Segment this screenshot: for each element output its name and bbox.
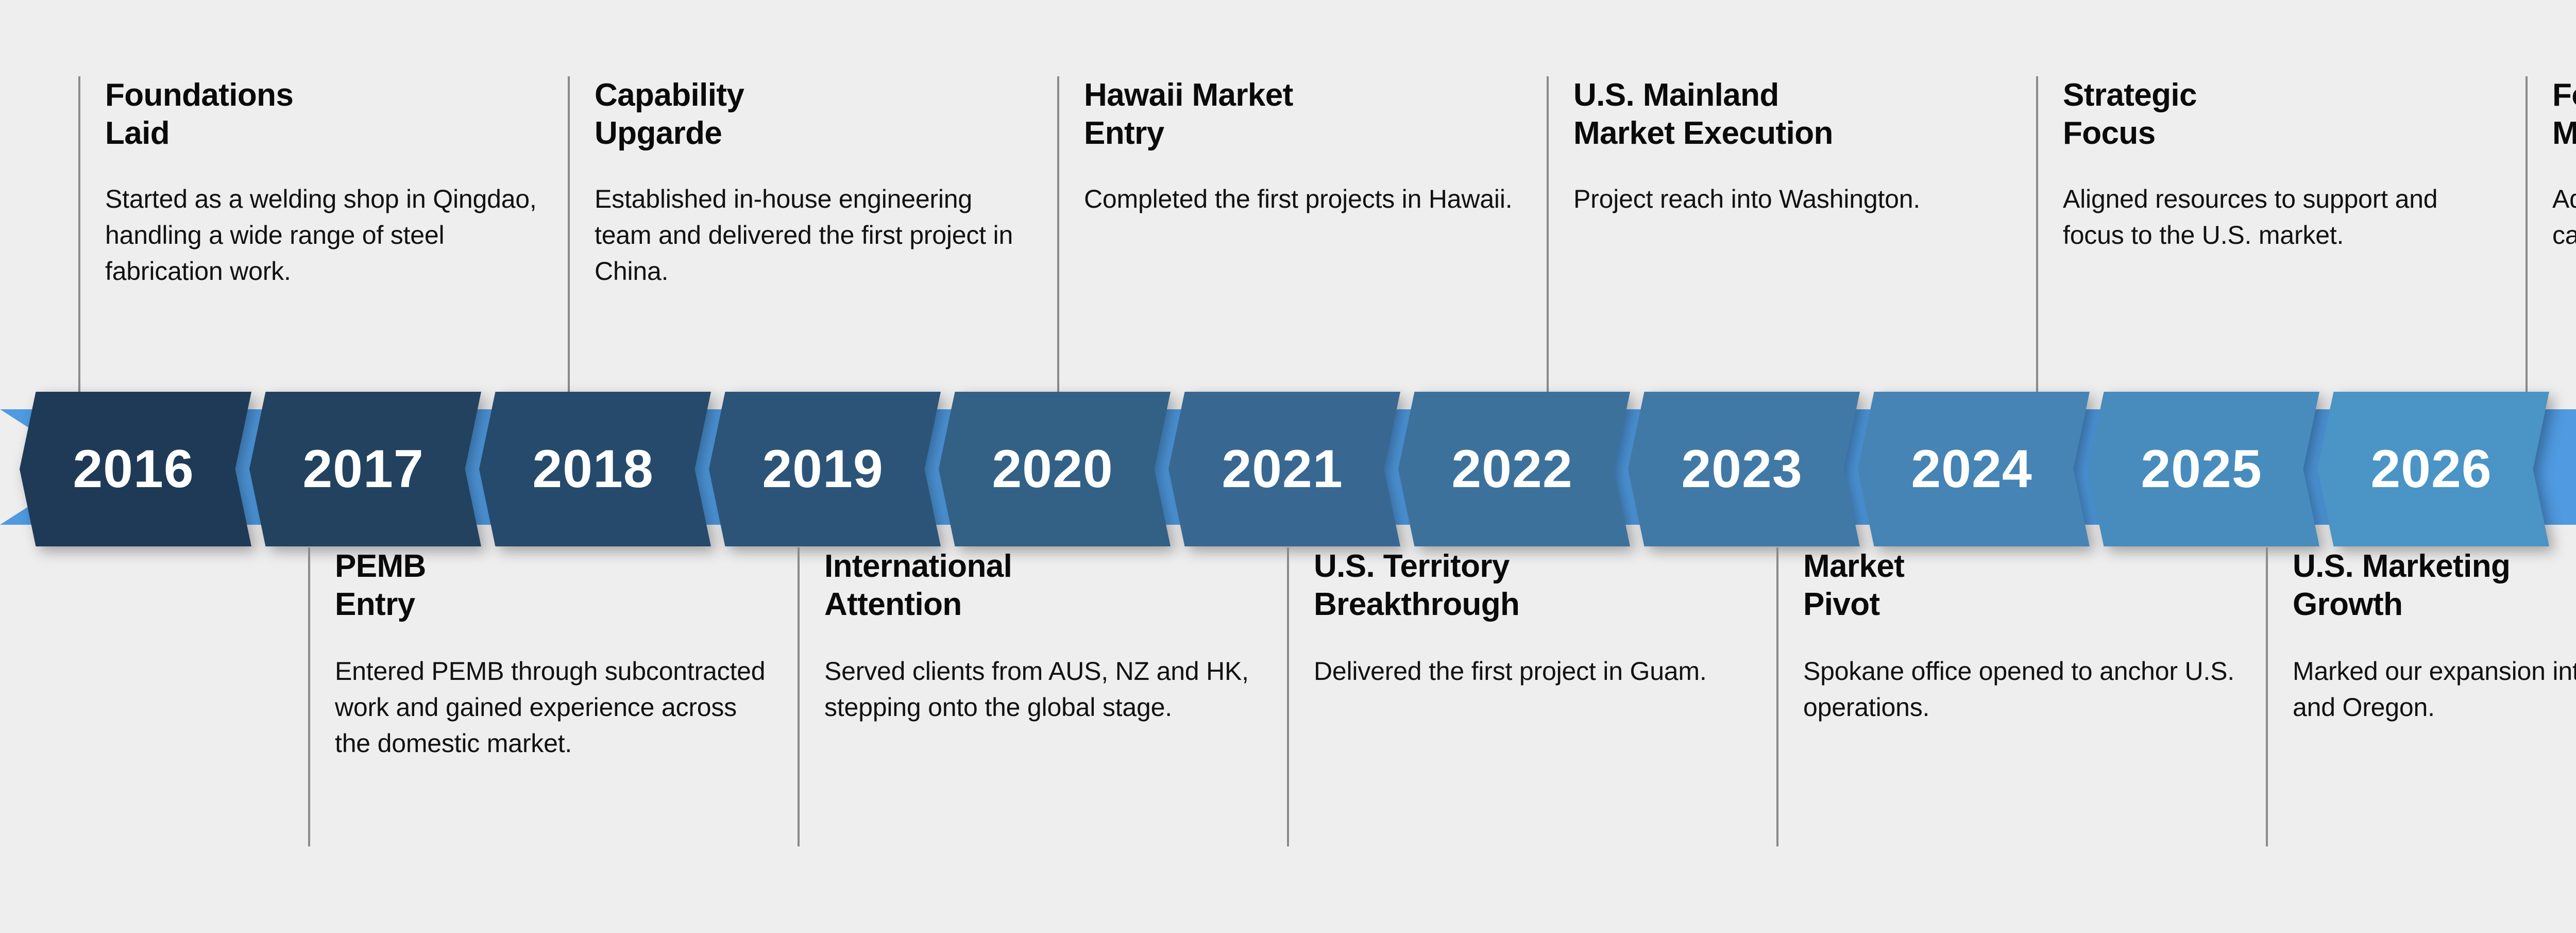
timeline-step-2023[interactable]: 2023 xyxy=(1628,392,1860,546)
entry-title: Market Pivot xyxy=(1803,547,2243,624)
entry-description: Started as a welding shop in Qingdao, ha… xyxy=(105,181,545,289)
entry-title: Hawaii Market Entry xyxy=(1084,76,1523,153)
entry-title: Forward Momentum xyxy=(2552,76,2576,153)
year-label: 2026 xyxy=(2315,392,2547,546)
year-label: 2021 xyxy=(1166,392,1398,546)
top-entry-2020: Hawaii Market EntryCompleted the first p… xyxy=(1057,76,1523,392)
entry-description: Marked our expansion into California and… xyxy=(2293,653,2576,725)
bottom-entry-2017: PEMB EntryEntered PEMB through subcontra… xyxy=(308,547,774,846)
entry-description: Spokane office opened to anchor U.S. ope… xyxy=(1803,653,2243,725)
entry-title: International Attention xyxy=(824,547,1264,624)
year-label: 2017 xyxy=(247,392,479,546)
entry-description: Advancing execution and operational capa… xyxy=(2552,181,2576,253)
entry-description: Served clients from AUS, NZ and HK, step… xyxy=(824,653,1264,725)
entry-divider-line xyxy=(1287,547,1289,846)
year-label: 2018 xyxy=(477,392,709,546)
timeline-step-2021[interactable]: 2021 xyxy=(1168,392,1400,546)
entry-divider-line xyxy=(568,76,570,392)
year-label: 2016 xyxy=(18,392,249,546)
entry-description: Established in-house engineering team an… xyxy=(595,181,1034,289)
timeline-step-2018[interactable]: 2018 xyxy=(479,392,711,546)
entry-divider-line xyxy=(798,547,800,846)
entry-divider-line xyxy=(2036,76,2038,392)
bottom-entry-2025: U.S. Marketing GrowthMarked our expansio… xyxy=(2266,547,2576,846)
entry-divider-line xyxy=(2526,76,2528,392)
entry-title: Strategic Focus xyxy=(2063,76,2502,153)
entry-title: Foundations Laid xyxy=(105,76,545,153)
year-label: 2020 xyxy=(937,392,1168,546)
entry-title: U.S. Mainland Market Execution xyxy=(1573,76,2013,153)
entry-description: Delivered the first project in Guam. xyxy=(1314,653,1753,689)
entry-title: U.S. Marketing Growth xyxy=(2293,547,2576,624)
top-entry-2018: Capability UpgardeEstablished in-house e… xyxy=(568,76,1034,392)
timeline-step-2016[interactable]: 2016 xyxy=(20,392,251,546)
timeline-step-2024[interactable]: 2024 xyxy=(1858,392,2090,546)
timeline-step-2020[interactable]: 2020 xyxy=(939,392,1171,546)
top-entry-2026: Forward MomentumAdvancing execution and … xyxy=(2526,76,2576,392)
timeline-infographic: Foundations LaidStarted as a welding sho… xyxy=(0,0,2576,933)
timeline-step-2019[interactable]: 2019 xyxy=(709,392,941,546)
bottom-entry-2019: International AttentionServed clients fr… xyxy=(798,547,1264,846)
entry-description: Aligned resources to support and focus t… xyxy=(2063,181,2502,253)
entry-description: Completed the first projects in Hawaii. xyxy=(1084,181,1523,217)
year-label: 2025 xyxy=(2086,392,2317,546)
top-entry-2016: Foundations LaidStarted as a welding sho… xyxy=(78,76,545,392)
timeline-step-2022[interactable]: 2022 xyxy=(1398,392,1630,546)
top-entry-2022: U.S. Mainland Market ExecutionProject re… xyxy=(1547,76,2013,392)
top-entry-2024: Strategic FocusAligned resources to supp… xyxy=(2036,76,2502,392)
entry-description: Entered PEMB through subcontracted work … xyxy=(335,653,774,761)
entry-title: PEMB Entry xyxy=(335,547,774,624)
timeline-step-2026[interactable]: 2026 xyxy=(2317,392,2549,546)
entry-divider-line xyxy=(308,547,310,846)
year-label: 2022 xyxy=(1396,392,1628,546)
entry-divider-line xyxy=(1776,547,1778,846)
timeline-step-2017[interactable]: 2017 xyxy=(249,392,481,546)
entry-divider-line xyxy=(78,76,80,392)
entry-divider-line xyxy=(2266,547,2268,846)
entry-title: Capability Upgarde xyxy=(595,76,1034,153)
bottom-entry-2021: U.S. Territory BreakthroughDelivered the… xyxy=(1287,547,1753,846)
timeline-step-2025[interactable]: 2025 xyxy=(2088,392,2319,546)
year-label: 2023 xyxy=(1626,392,1858,546)
entry-description: Project reach into Washington. xyxy=(1573,181,2013,217)
entry-divider-line xyxy=(1057,76,1059,392)
entry-title: U.S. Territory Breakthrough xyxy=(1314,547,1753,624)
entry-divider-line xyxy=(1547,76,1549,392)
bottom-entry-2023: Market PivotSpokane office opened to anc… xyxy=(1776,547,2243,846)
year-label: 2019 xyxy=(707,392,939,546)
timeline-chevrons: 2016201720182019202020212022202320242025… xyxy=(0,392,2576,546)
year-label: 2024 xyxy=(1856,392,2088,546)
